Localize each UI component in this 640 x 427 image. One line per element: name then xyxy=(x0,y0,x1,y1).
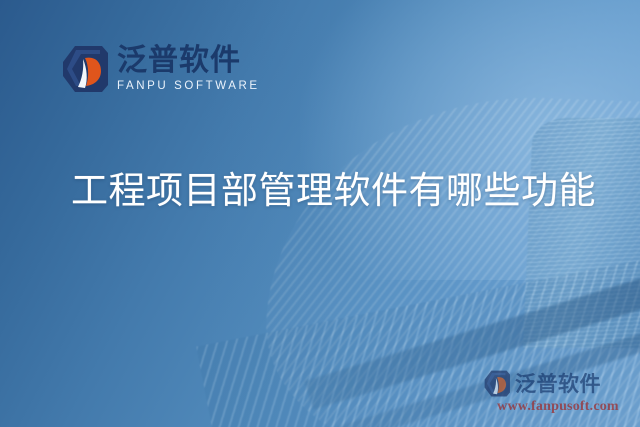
brand-logo: 泛普软件 FANPU SOFTWARE xyxy=(62,45,260,93)
watermark-brand-name: 泛普软件 xyxy=(515,368,601,398)
fanpu-hexagon-sail-watermark-icon xyxy=(484,370,510,397)
page-title: 工程项目部管理软件有哪些功能 xyxy=(71,160,596,214)
brand-name-en: FANPU SOFTWARE xyxy=(117,81,260,93)
watermark-url: www.fanpusoft.com xyxy=(484,399,632,415)
brand-logo-text: 泛普软件 FANPU SOFTWARE xyxy=(117,46,260,93)
watermark: 泛普软件 www.fanpusoft.com xyxy=(484,368,632,415)
watermark-logo-row: 泛普软件 xyxy=(484,368,632,398)
brand-name-cn: 泛普软件 xyxy=(117,46,260,76)
glass-tower-building xyxy=(523,118,640,348)
fanpu-hexagon-sail-logo-icon xyxy=(62,45,108,93)
sky-light-bloom xyxy=(300,0,640,280)
promo-banner: 泛普软件 FANPU SOFTWARE 工程项目部管理软件有哪些功能 泛普软件 … xyxy=(0,0,640,427)
